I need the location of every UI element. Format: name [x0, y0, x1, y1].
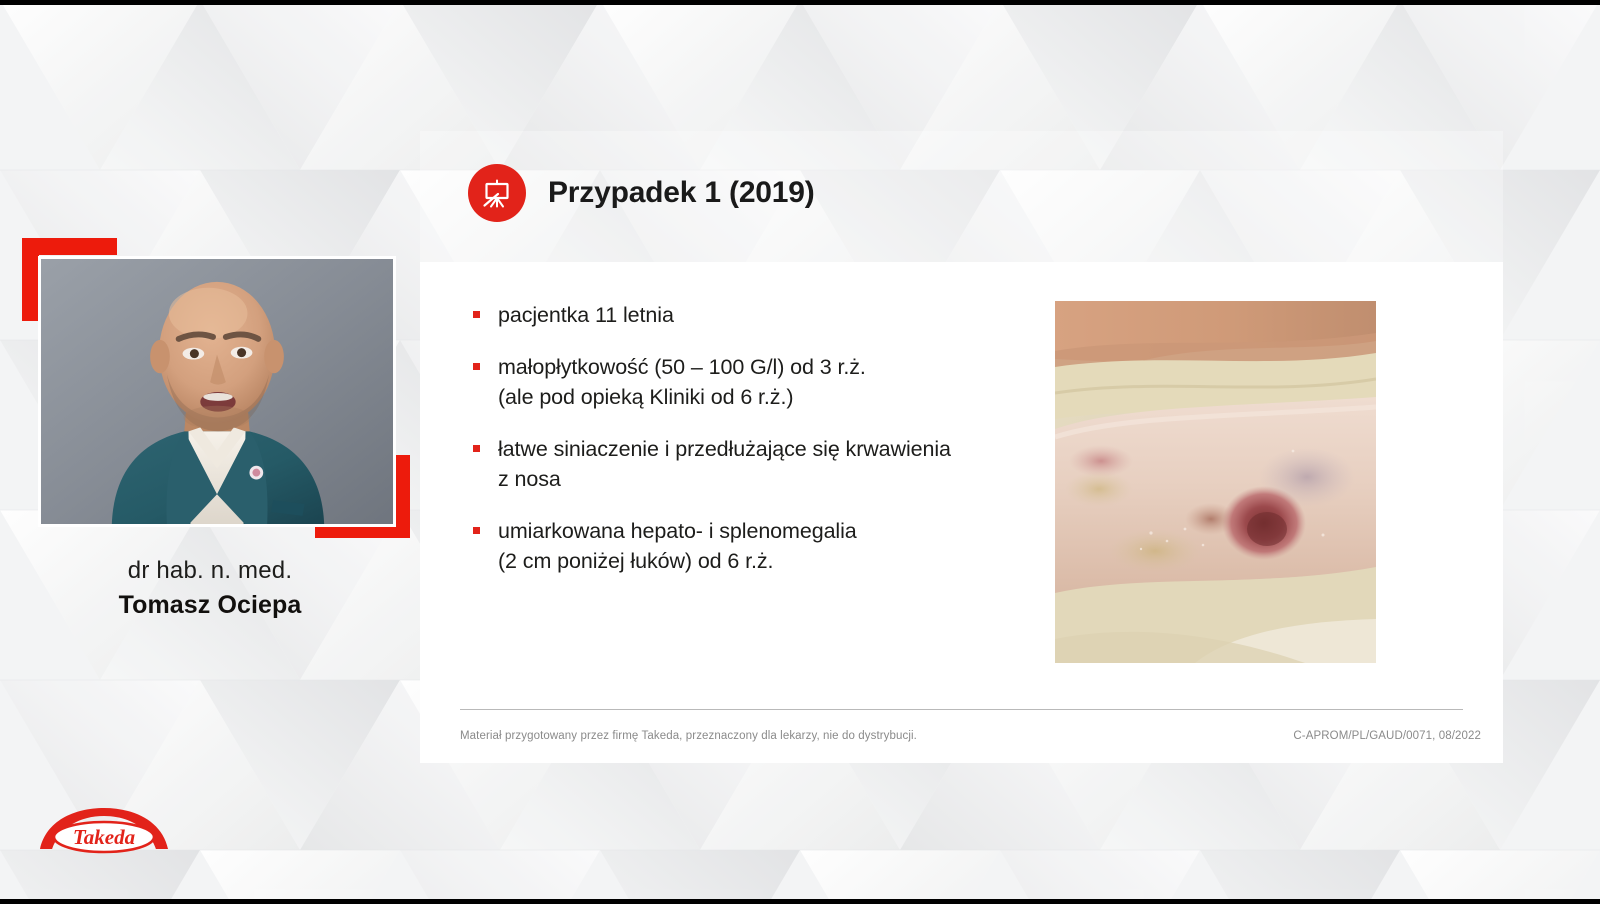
footer-approval-code: C-APROM/PL/GAUD/0071, 08/2022	[1293, 730, 1481, 742]
speaker-caption: dr hab. n. med. Tomasz Ociepa	[0, 555, 420, 622]
list-item: pacjentka 11 letnia	[470, 300, 1050, 331]
list-item: łatwe siniaczenie i przedłużające się kr…	[470, 434, 1050, 495]
slide-header: Przypadek 1 (2019)	[420, 131, 1503, 262]
list-item: umiarkowana hepato- i splenomegalia (2 c…	[470, 516, 1050, 577]
slide-body: pacjentka 11 letnia małopłytkowość (50 –…	[420, 262, 1503, 763]
slide-footer: Materiał przygotowany przez firmę Takeda…	[460, 730, 1481, 742]
speaker-name-line: Tomasz Ociepa	[0, 589, 420, 622]
footer-divider	[460, 709, 1463, 710]
bullet-text-line-2: (2 cm poniżej łuków) od 6 r.ż.	[498, 546, 1050, 577]
bullet-text-line-2: z nosa	[498, 464, 1050, 495]
bullet-text-line-1: łatwe siniaczenie i przedłużające się kr…	[498, 437, 951, 461]
speaker-photo-frame	[38, 256, 396, 527]
bullet-text-line-1: pacjentka 11 letnia	[498, 303, 674, 327]
bullet-marker-icon	[473, 527, 480, 534]
case-bullet-list: pacjentka 11 letnia małopłytkowość (50 –…	[470, 300, 1050, 577]
bullet-marker-icon	[473, 311, 480, 318]
speaker-photo-block	[22, 238, 422, 538]
slide-title-row: Przypadek 1 (2019)	[468, 164, 815, 222]
letterbox-bottom	[0, 899, 1600, 904]
letterbox-top	[0, 0, 1600, 5]
footer-disclaimer-text: Materiał przygotowany przez firmę Takeda…	[460, 730, 917, 742]
presentation-stage: dr hab. n. med. Tomasz Ociepa Takeda	[0, 0, 1600, 904]
takeda-logo: Takeda	[36, 806, 172, 856]
bullet-text-line-1: umiarkowana hepato- i splenomegalia	[498, 519, 857, 543]
svg-text:Takeda: Takeda	[73, 825, 135, 849]
bullet-marker-icon	[473, 445, 480, 452]
speaker-video-portrait	[41, 259, 393, 524]
bullet-marker-icon	[473, 363, 480, 370]
frame-corner-top-left-vertical	[22, 238, 39, 321]
page-title: Przypadek 1 (2019)	[548, 176, 815, 210]
slide-panel: Przypadek 1 (2019) pacjentka 11 letnia m…	[420, 131, 1503, 763]
clinical-photo-bruise-on-limb	[1055, 301, 1376, 663]
speaker-title-line: dr hab. n. med.	[0, 555, 420, 587]
bullet-text-line-2: (ale pod opieką Kliniki od 6 r.ż.)	[498, 382, 1050, 413]
bullet-text-line-1: małopłytkowość (50 – 100 G/l) od 3 r.ż.	[498, 355, 866, 379]
presentation-board-icon	[468, 164, 526, 222]
list-item: małopłytkowość (50 – 100 G/l) od 3 r.ż. …	[470, 352, 1050, 413]
